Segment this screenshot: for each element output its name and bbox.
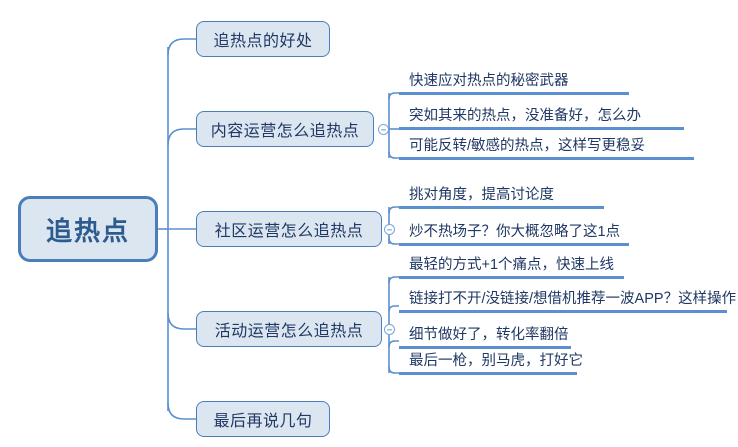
leaf-node[interactable]: 链接打不开/没链接/想借机推荐一波APP？这样操作 bbox=[399, 288, 727, 313]
branch-node-label: 内容运营怎么追热点 bbox=[211, 117, 360, 141]
leaf-node[interactable]: 炒不热场子？你大概忽略了这1点 bbox=[399, 221, 629, 246]
collapse-minus-icon[interactable] bbox=[378, 124, 389, 135]
collapse-minus-icon[interactable] bbox=[384, 324, 395, 335]
branch-node-benefits[interactable]: 追热点的好处 bbox=[196, 21, 330, 57]
leaf-node[interactable]: 可能反转/敏感的热点，这样写更稳妥 bbox=[399, 135, 694, 160]
branch-node-label: 活动运营怎么追热点 bbox=[215, 317, 364, 341]
root-node-label: 追热点 bbox=[46, 211, 130, 248]
mindmap-canvas: 追热点 追热点的好处 内容运营怎么追热点 社区运营怎么追热点 活动运营怎么追热点… bbox=[0, 0, 738, 447]
leaf-node[interactable]: 挑对角度，提高讨论度 bbox=[399, 184, 604, 209]
leaf-node-label: 细节做好了，转化率翻倍 bbox=[409, 323, 569, 344]
leaf-node[interactable]: 最轻的方式+1个痛点，快速上线 bbox=[399, 254, 624, 279]
leaf-node[interactable]: 快速应对热点的秘密武器 bbox=[399, 70, 629, 95]
leaf-node-label: 快速应对热点的秘密武器 bbox=[409, 69, 569, 90]
branch-node-label: 最后再说几句 bbox=[213, 407, 312, 431]
leaf-node-label: 挑对角度，提高讨论度 bbox=[409, 183, 554, 204]
branch-node-content-ops[interactable]: 内容运营怎么追热点 bbox=[196, 111, 374, 147]
leaf-node-label: 炒不热场子？你大概忽略了这1点 bbox=[409, 220, 620, 241]
leaf-node-label: 最轻的方式+1个痛点，快速上线 bbox=[409, 253, 614, 274]
leaf-node[interactable]: 最后一枪，别马虎，打好它 bbox=[399, 350, 577, 375]
collapse-minus-icon[interactable] bbox=[384, 224, 395, 235]
leaf-node[interactable]: 突如其来的热点，没准备好，怎么办 bbox=[399, 105, 684, 130]
branch-node-label: 社区运营怎么追热点 bbox=[215, 217, 364, 241]
leaf-node[interactable]: 细节做好了，转化率翻倍 bbox=[399, 324, 571, 349]
leaf-node-label: 突如其来的热点，没准备好，怎么办 bbox=[409, 104, 641, 125]
root-node[interactable]: 追热点 bbox=[18, 196, 158, 262]
branch-node-closing-words[interactable]: 最后再说几句 bbox=[196, 401, 330, 437]
branch-node-activity-ops[interactable]: 活动运营怎么追热点 bbox=[196, 311, 382, 347]
branch-node-community-ops[interactable]: 社区运营怎么追热点 bbox=[196, 211, 382, 247]
leaf-node-label: 可能反转/敏感的热点，这样写更稳妥 bbox=[409, 134, 645, 155]
leaf-node-label: 链接打不开/没链接/想借机推荐一波APP？这样操作 bbox=[409, 287, 736, 308]
leaf-node-label: 最后一枪，别马虎，打好它 bbox=[409, 349, 583, 370]
branch-node-label: 追热点的好处 bbox=[213, 27, 312, 51]
